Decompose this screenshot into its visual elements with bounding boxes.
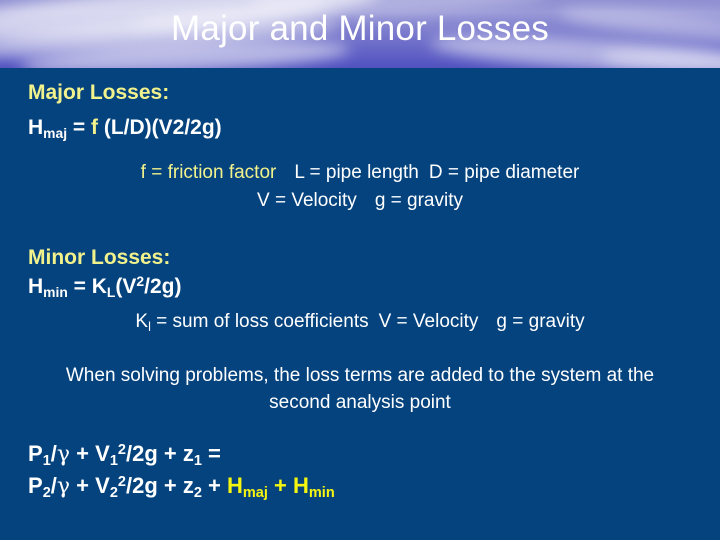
v1-subscript: 1: [110, 453, 118, 469]
hmin-equals: =: [68, 275, 92, 298]
hmaj-term-symbol: H: [227, 473, 243, 498]
slide: Major and Minor Losses Major Losses: Hma…: [0, 0, 720, 540]
hmin-term-symbol: H: [293, 473, 309, 498]
v2-exponent: 2: [118, 474, 126, 490]
plus-operator: +: [202, 473, 227, 498]
definition-friction-factor: f = friction factor: [141, 162, 277, 183]
hmaj-equals: =: [67, 116, 91, 139]
friction-factor-symbol: f: [91, 116, 98, 139]
v2-subscript: 2: [110, 485, 118, 501]
definition-pipe-length: L = pipe length: [294, 162, 418, 183]
p2-subscript: 2: [43, 485, 51, 501]
slide-header-banner: Major and Minor Losses: [0, 0, 720, 68]
definition-velocity: V = Velocity: [257, 190, 357, 211]
energy-equation-line-1: P1/γ + V12/2g + z1 =: [28, 441, 221, 467]
minor-losses-heading: Minor Losses:: [28, 246, 170, 270]
v1-divider: /2g: [126, 441, 158, 466]
z1-subscript: 1: [194, 453, 202, 469]
minor-definitions-line: Kl = sum of loss coefficientsV = Velocit…: [0, 311, 720, 333]
hmin-subscript: min: [43, 284, 68, 300]
slide-body: Major Losses: Hmaj = f (L/D)(V2/2g) f = …: [0, 68, 720, 540]
definition-velocity: V = Velocity: [379, 311, 479, 332]
major-losses-formula: Hmaj = f (L/D)(V2/2g): [28, 116, 222, 140]
v2-symbol: V: [95, 473, 110, 498]
p2-symbol: P: [28, 473, 43, 498]
plus-operator: +: [70, 441, 95, 466]
hmin-close-paren: /2g): [144, 275, 181, 298]
z1-symbol: z: [183, 441, 194, 466]
gamma-symbol: γ: [57, 442, 70, 467]
major-losses-heading: Major Losses:: [28, 81, 169, 105]
hmaj-expression: (L/D)(V2/2g): [98, 116, 222, 139]
p1-subscript: 1: [43, 453, 51, 469]
definition-gravity: g = gravity: [496, 311, 584, 332]
kl-def-symbol: K: [135, 311, 148, 332]
hmaj-symbol: H: [28, 116, 43, 139]
hmin-open-paren: (V: [115, 275, 136, 298]
p1-symbol: P: [28, 441, 43, 466]
plus-operator: +: [158, 473, 183, 498]
hmin-exponent: 2: [136, 273, 144, 289]
energy-equation-line-2: P2/γ + V22/2g + z2 + Hmaj + Hmin: [28, 473, 335, 499]
note-line-2: second analysis point: [0, 392, 720, 414]
z2-symbol: z: [183, 473, 194, 498]
definition-loss-coefficients: = sum of loss coefficients: [151, 311, 369, 332]
kl-symbol: K: [92, 275, 107, 298]
v2-divider: /2g: [126, 473, 158, 498]
definition-pipe-diameter: D = pipe diameter: [429, 162, 580, 183]
plus-operator: +: [158, 441, 183, 466]
hmaj-term-subscript: maj: [243, 485, 268, 501]
kl-def-subscript: l: [148, 320, 151, 334]
page-title: Major and Minor Losses: [0, 7, 720, 51]
kl-subscript: L: [107, 284, 115, 300]
major-definitions-line-2: V = Velocityg = gravity: [0, 190, 720, 212]
hmaj-subscript: maj: [43, 125, 67, 141]
major-definitions-line-1: f = friction factorL = pipe lengthD = pi…: [0, 162, 720, 184]
hmin-term-subscript: min: [309, 485, 335, 501]
z2-subscript: 2: [194, 485, 202, 501]
gamma-symbol: γ: [57, 474, 70, 499]
note-line-1: When solving problems, the loss terms ar…: [0, 365, 720, 387]
plus-operator: +: [70, 473, 95, 498]
hmin-symbol: H: [28, 275, 43, 298]
v1-symbol: V: [95, 441, 110, 466]
equals-operator: =: [202, 441, 221, 466]
plus-operator: +: [268, 473, 293, 498]
minor-losses-formula: Hmin = KL(V2/2g): [28, 275, 181, 299]
v1-exponent: 2: [118, 442, 126, 458]
definition-gravity: g = gravity: [375, 190, 463, 211]
